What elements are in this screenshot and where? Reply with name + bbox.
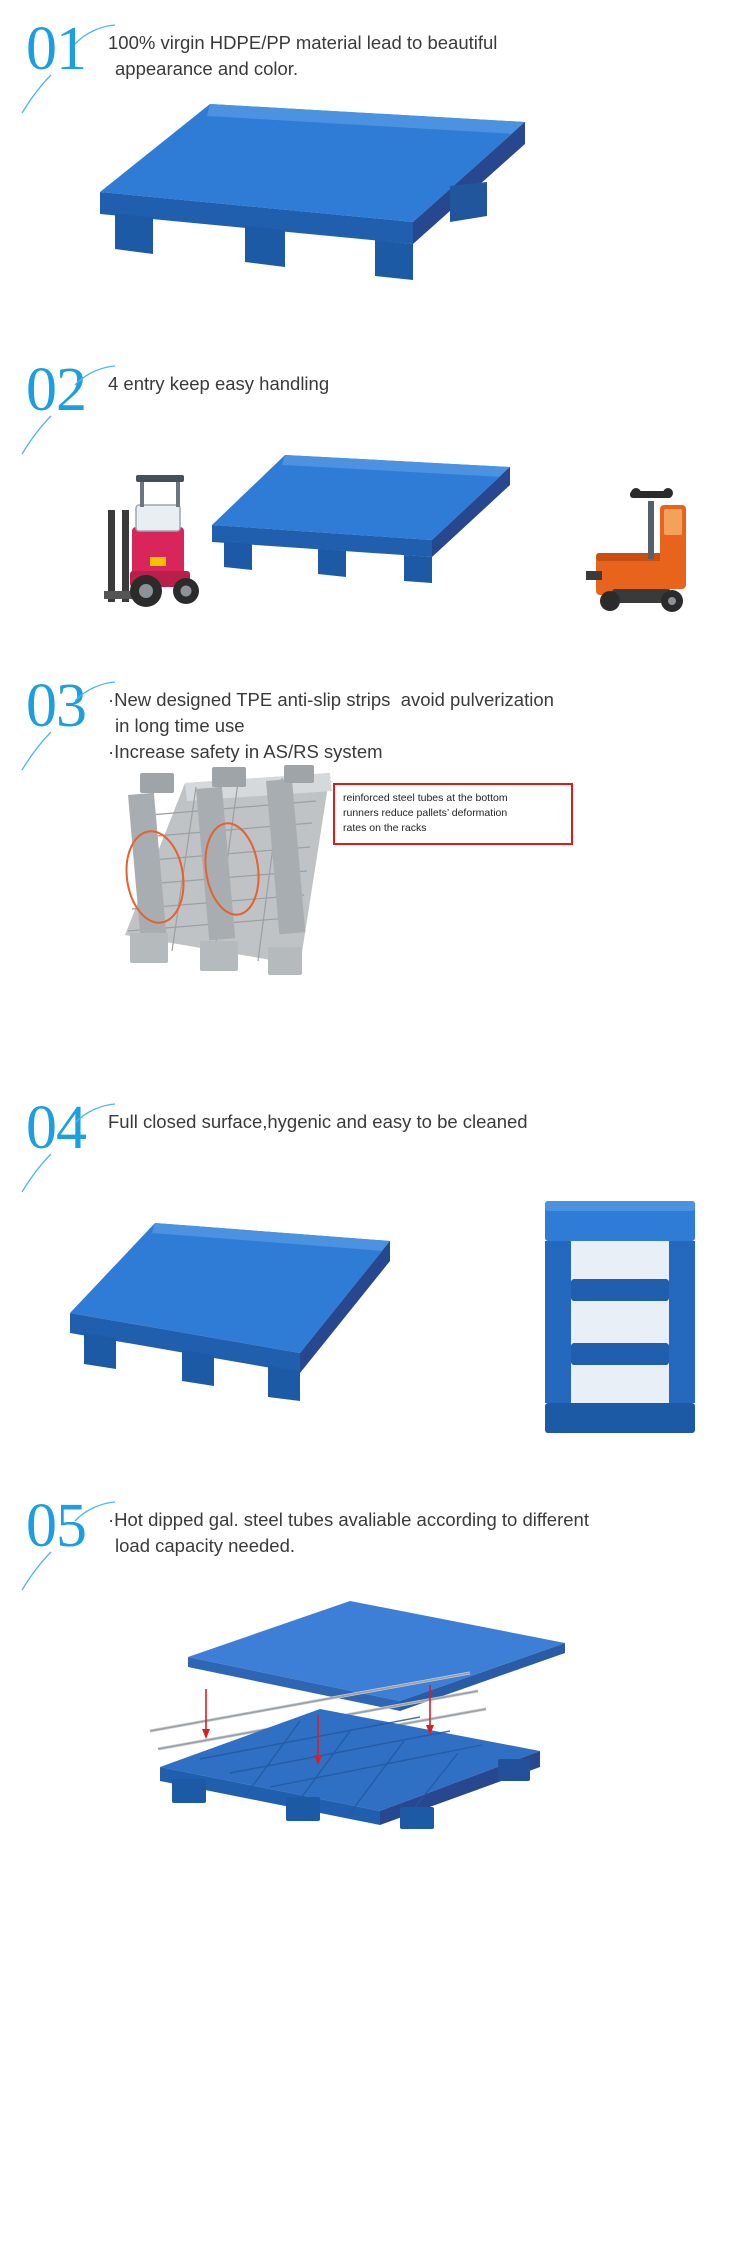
feature-image-04 [0,1183,750,1453]
feature-text-01: 100% virgin HDPE/PP material lead to bea… [108,18,750,82]
feature-section-01: 01 100% virgin HDPE/PP material lead to … [0,0,750,299]
caption-box-steel-tubes: reinforced steel tubes at the bottom run… [333,783,573,845]
feature-text-03: ·New designed TPE anti-slip strips avoid… [108,675,750,765]
feature-number-03: 03 [26,675,108,737]
caption-line: rates on the racks [343,821,563,836]
feature-text-line: load capacity needed. [108,1533,720,1559]
feature-number-01: 01 [26,18,108,80]
feature-header-02: 02 4 entry keep easy handling [0,359,750,445]
feature-text-02: 4 entry keep easy handling [108,359,750,397]
feature-text-05: ·Hot dipped gal. steel tubes avaliable a… [108,1495,750,1559]
feature-section-02: 02 4 entry keep easy handling [0,299,750,635]
feature-number-wrap-02: 02 [0,359,108,445]
feature-text-line: ·Hot dipped gal. steel tubes avaliable a… [108,1507,720,1533]
caption-line: reinforced steel tubes at the bottom [343,791,563,806]
pallet-top-view-and-side-profile [0,1183,750,1453]
feature-number-wrap-04: 04 [0,1097,108,1183]
feature-number-wrap-05: 05 [0,1495,108,1581]
feature-header-05: 05 ·Hot dipped gal. steel tubes avaliabl… [0,1495,750,1581]
feature-section-04: 04 Full closed surface,hygenic and easy … [0,1055,750,1453]
feature-text-line: 4 entry keep easy handling [108,371,720,397]
feature-text-04: Full closed surface,hygenic and easy to … [108,1097,750,1135]
pallet-underside-steel-tube-runners: reinforced steel tubes at the bottom run… [0,765,750,1055]
feature-text-line: ·Increase safety in AS/RS system [108,739,720,765]
feature-number-05: 05 [26,1495,108,1557]
caption-line: runners reduce pallets’ deformation [343,806,563,821]
feature-text-line: appearance and color. [108,56,720,82]
feature-text-line: Full closed surface,hygenic and easy to … [108,1109,720,1135]
pallet-truck-icon [586,488,686,612]
forklift-icon [104,475,199,607]
pallet-with-forklift-and-pallet-truck [0,445,750,635]
feature-number-wrap-01: 01 [0,18,108,104]
feature-section-05: 05 ·Hot dipped gal. steel tubes avaliabl… [0,1453,750,1841]
pallet-exploded-diagram-with-steel-tubes [0,1581,750,1841]
feature-text-line: 100% virgin HDPE/PP material lead to bea… [108,30,720,56]
feature-number-wrap-03: 03 [0,675,108,761]
feature-text-line: in long time use [108,713,720,739]
feature-number-04: 04 [26,1097,108,1159]
feature-header-04: 04 Full closed surface,hygenic and easy … [0,1097,750,1183]
feature-header-03: 03 ·New designed TPE anti-slip strips av… [0,675,750,765]
feature-number-02: 02 [26,359,108,421]
feature-image-02 [0,445,750,635]
feature-header-01: 01 100% virgin HDPE/PP material lead to … [0,18,750,104]
blue-plastic-pallet-photo [95,104,525,294]
feature-section-03: 03 ·New designed TPE anti-slip strips av… [0,635,750,1055]
feature-image-01 [0,104,750,299]
product-feature-page: 01 100% virgin HDPE/PP material lead to … [0,0,750,2261]
feature-image-03: reinforced steel tubes at the bottom run… [0,765,750,1055]
feature-image-05 [0,1581,750,1841]
feature-text-line: ·New designed TPE anti-slip strips avoid… [108,687,720,713]
